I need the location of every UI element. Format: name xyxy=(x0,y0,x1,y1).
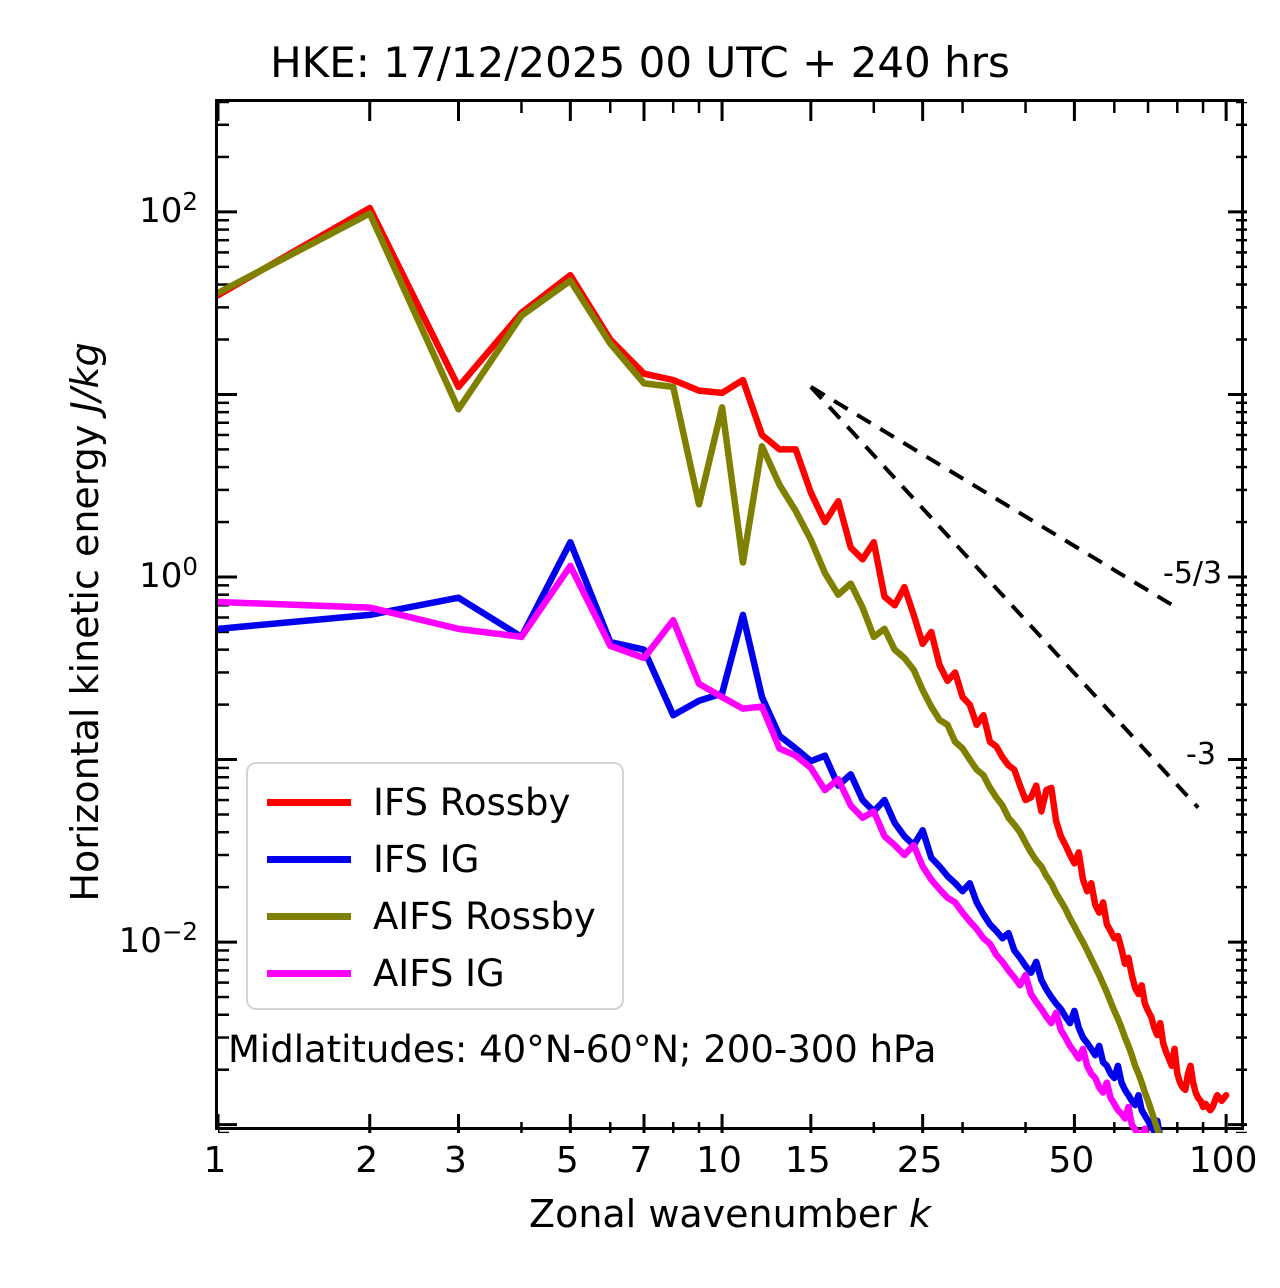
x-axis-label: Zonal wavenumber k xyxy=(215,1192,1245,1236)
legend[interactable]: IFS Rossby IFS IG AIFS Rossby AIFS IG xyxy=(246,762,624,1010)
legend-item[interactable]: IFS IG xyxy=(248,831,622,888)
y-tick-label: 10−2 xyxy=(119,917,198,961)
x-tick-label: 2 xyxy=(355,1140,378,1181)
x-tick-label: 3 xyxy=(444,1140,467,1181)
x-tick-label: 5 xyxy=(556,1140,579,1181)
x-tick-label: 100 xyxy=(1189,1140,1258,1181)
x-tick-label: 15 xyxy=(785,1140,831,1181)
x-tick-label: 50 xyxy=(1048,1140,1094,1181)
x-tick-label: 10 xyxy=(696,1140,742,1181)
legend-swatch-ifs-rossby xyxy=(267,799,351,806)
legend-label-aifs-rossby: AIFS Rossby xyxy=(373,898,596,935)
legend-label-aifs-ig: AIFS IG xyxy=(373,955,505,992)
y-axis-label-units: J/kg xyxy=(63,342,107,412)
x-tick-label: 25 xyxy=(897,1140,943,1181)
x-tick-label: 7 xyxy=(630,1140,653,1181)
legend-swatch-aifs-ig xyxy=(267,970,351,977)
slope-label-minus-three: -3 xyxy=(1186,737,1216,772)
reference-lines xyxy=(811,387,1198,808)
y-axis-label: Horizontal kinetic energy J/kg xyxy=(63,272,107,972)
y-axis-label-text: Horizontal kinetic energy xyxy=(63,413,107,902)
x-axis-label-text: Zonal wavenumber xyxy=(529,1192,909,1236)
legend-swatch-ifs-ig xyxy=(267,856,351,863)
legend-item[interactable]: AIFS Rossby xyxy=(248,888,622,945)
slope-label-five-thirds: -5/3 xyxy=(1163,556,1222,591)
x-axis-label-symbol: k xyxy=(909,1192,931,1236)
figure-canvas: HKE: 17/12/2025 00 UTC + 240 hrs Horizon… xyxy=(0,0,1280,1288)
y-tick-label: 100 xyxy=(139,552,198,596)
legend-item[interactable]: IFS Rossby xyxy=(248,774,622,831)
region-annotation: Midlatitudes: 40°N-60°N; 200-300 hPa xyxy=(228,1028,936,1071)
page-title: HKE: 17/12/2025 00 UTC + 240 hrs xyxy=(0,38,1280,87)
legend-item[interactable]: AIFS IG xyxy=(248,945,622,1002)
legend-label-ifs-rossby: IFS Rossby xyxy=(373,784,570,821)
x-tick-label: 1 xyxy=(204,1140,227,1181)
y-tick-label: 102 xyxy=(139,187,198,231)
legend-swatch-aifs-rossby xyxy=(267,913,351,920)
legend-label-ifs-ig: IFS IG xyxy=(373,841,479,878)
